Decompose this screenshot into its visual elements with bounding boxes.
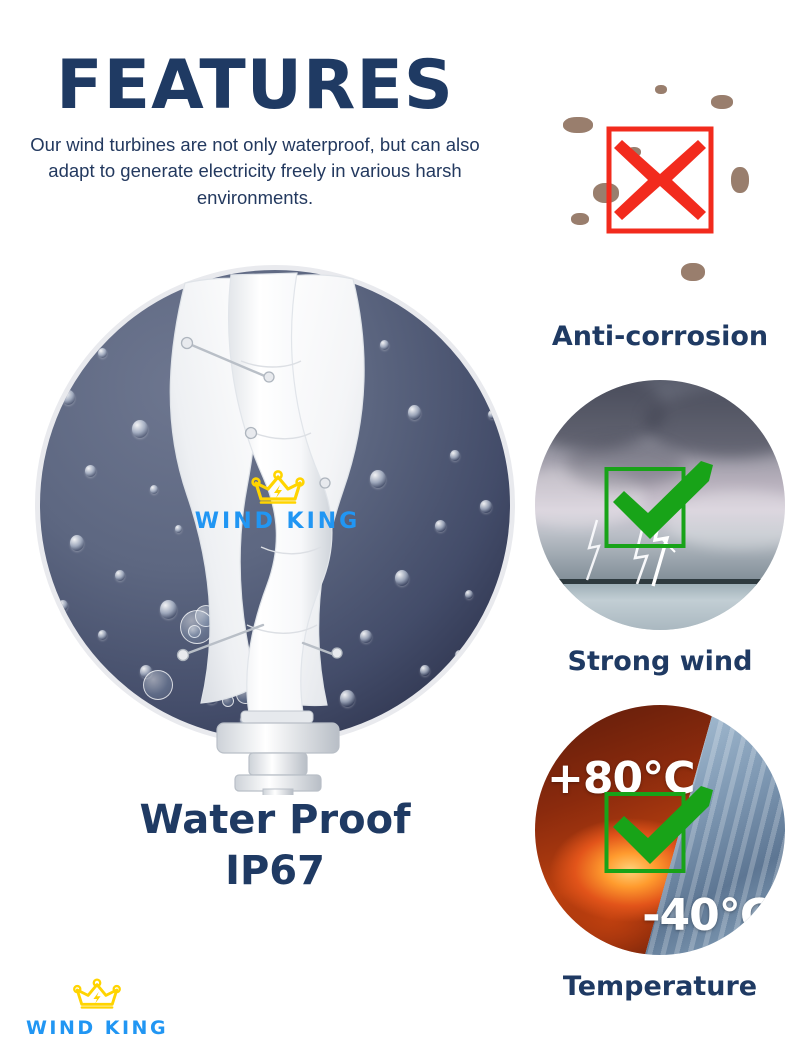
feature-label-strong-wind: Strong wind: [535, 646, 785, 677]
crown-lightning-icon: [249, 470, 307, 506]
strong-wind-image: [535, 380, 785, 630]
watermark-brand-text: WIND KING: [180, 509, 375, 534]
anti-corrosion-image: [535, 55, 785, 305]
cross-mark-icon: [606, 126, 714, 234]
feature-strong-wind: Strong wind: [535, 380, 785, 677]
temperature-low-value: -40℃: [642, 890, 771, 941]
brand-logo: WIND KING: [22, 978, 172, 1039]
main-caption-line1: Water Proof: [35, 795, 515, 846]
crown-lightning-icon: [71, 978, 123, 1011]
check-mark-icon: [604, 780, 716, 880]
feature-anti-corrosion: Anti-corrosion: [535, 55, 785, 352]
main-caption-line2: IP67: [35, 846, 515, 897]
turbine-mount-plate: [235, 775, 321, 791]
feature-temperature: +80℃ -40℃ Temperature: [535, 705, 785, 1002]
page-subtitle: Our wind turbines are not only waterproo…: [0, 132, 510, 211]
page-title: FEATURES: [0, 52, 510, 120]
temperature-image: +80℃ -40℃: [535, 705, 785, 955]
check-mark-icon: [604, 455, 716, 555]
header: FEATURES Our wind turbines are not only …: [0, 52, 510, 211]
feature-label-temperature: Temperature: [535, 971, 785, 1002]
watermark-logo: WIND KING: [180, 470, 375, 534]
feature-label-anti-corrosion: Anti-corrosion: [535, 321, 785, 352]
brand-name-text: WIND KING: [22, 1017, 172, 1039]
features-infographic-page: FEATURES Our wind turbines are not only …: [0, 0, 800, 1050]
main-feature-caption: Water Proof IP67: [35, 795, 515, 897]
